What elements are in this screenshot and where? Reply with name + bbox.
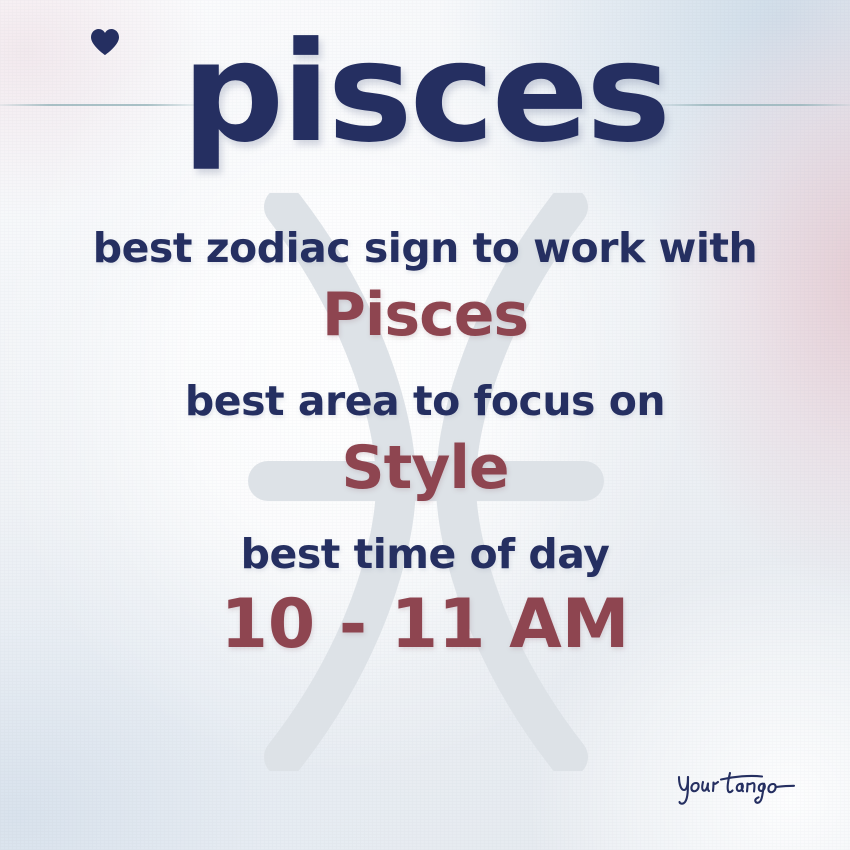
entry-label: best zodiac sign to work with (0, 228, 850, 269)
entry-value: 10 - 11 AM (0, 591, 850, 659)
title-container: pisces (0, 24, 850, 162)
entry-value: Style (0, 438, 850, 498)
heart-icon (90, 28, 120, 56)
page-title: pisces (182, 24, 668, 162)
zodiac-info-card: pisces best zodiac sign to work with Pis… (0, 0, 850, 850)
entry-label: best time of day (0, 534, 850, 575)
entry-best-time: best time of day 10 - 11 AM (0, 534, 850, 659)
entry-list: best zodiac sign to work with Pisces bes… (0, 228, 850, 659)
entry-value: Pisces (0, 285, 850, 345)
entry-label: best area to focus on (0, 381, 850, 422)
entry-best-zodiac-sign: best zodiac sign to work with Pisces (0, 228, 850, 345)
entry-best-area: best area to focus on Style (0, 381, 850, 498)
yourtango-logo[interactable] (674, 760, 804, 808)
